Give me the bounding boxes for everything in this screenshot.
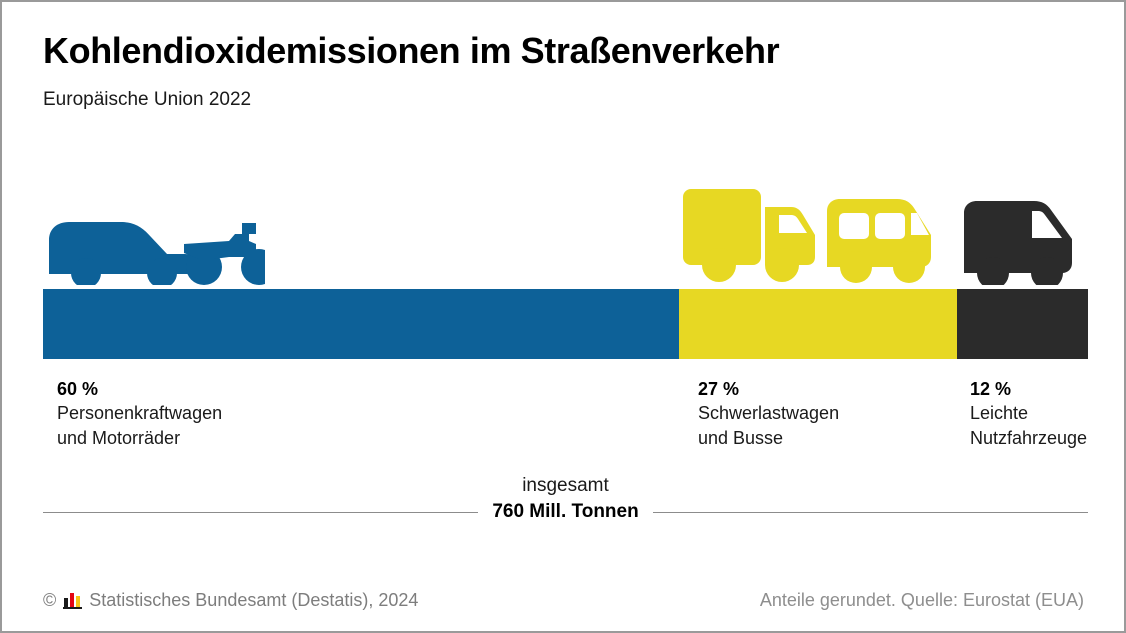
- rule-right: [653, 512, 1088, 513]
- van-icon: [960, 197, 1092, 285]
- icon-group-light-commercial: [960, 197, 1092, 285]
- segment-desc-line2: Nutzfahrzeuge: [970, 426, 1087, 451]
- rule-left: [43, 512, 478, 513]
- page-title: Kohlendioxidemissionen im Straßenverkehr: [43, 30, 779, 72]
- heavy-vehicles-icons: [681, 185, 947, 285]
- copyright-icon: ©: [43, 590, 56, 611]
- icon-group-heavy-vehicles: [681, 185, 947, 285]
- bar-segment-heavy-vehicles[interactable]: [679, 289, 957, 359]
- total-caption: insgesamt: [43, 473, 1088, 499]
- total-label: insgesamt: [522, 475, 609, 496]
- page-subtitle: Europäische Union 2022: [43, 89, 251, 111]
- segment-percent: 60 %: [57, 377, 222, 401]
- segment-label-heavy-vehicles: 27 % Schwerlastwagen und Busse: [698, 377, 839, 451]
- segment-desc-line1: Schwerlastwagen: [698, 401, 839, 426]
- footer-source-right: Anteile gerundet. Quelle: Eurostat (EUA): [760, 590, 1084, 611]
- motorcycle-icon: [184, 223, 265, 285]
- segment-desc-line1: Leichte: [970, 401, 1087, 426]
- segment-desc-line2: und Busse: [698, 426, 839, 451]
- segment-desc-line1: Personenkraftwagen: [57, 401, 222, 426]
- truck-icon: [683, 189, 815, 282]
- footer-source-left: © Statistisches Bundesamt (Destatis), 20…: [43, 590, 418, 611]
- car-icon: [49, 222, 198, 285]
- bar-segment-passenger-vehicles[interactable]: [43, 289, 679, 359]
- segment-percent: 27 %: [698, 377, 839, 401]
- total-value-row: 760 Mill. Tonnen: [43, 501, 1088, 523]
- footer-publisher: Statistisches Bundesamt (Destatis), 2024: [89, 590, 418, 611]
- icon-row: [2, 170, 1126, 285]
- icon-group-passenger-vehicles: [43, 210, 265, 285]
- segment-label-passenger-vehicles: 60 % Personenkraftwagen und Motorräder: [57, 377, 222, 451]
- segment-desc-line2: und Motorräder: [57, 426, 222, 451]
- passenger-vehicles-icons: [43, 210, 265, 285]
- bus-icon: [827, 199, 931, 283]
- segment-percent: 12 %: [970, 377, 1087, 401]
- destatis-logo-icon: [63, 592, 82, 609]
- segment-label-light-commercial: 12 % Leichte Nutzfahrzeuge: [970, 377, 1087, 451]
- bar-segment-light-commercial[interactable]: [957, 289, 1088, 359]
- infographic-root: Kohlendioxidemissionen im Straßenverkehr…: [0, 0, 1126, 633]
- total-value: 760 Mill. Tonnen: [492, 501, 638, 523]
- stacked-bar: [43, 289, 1088, 359]
